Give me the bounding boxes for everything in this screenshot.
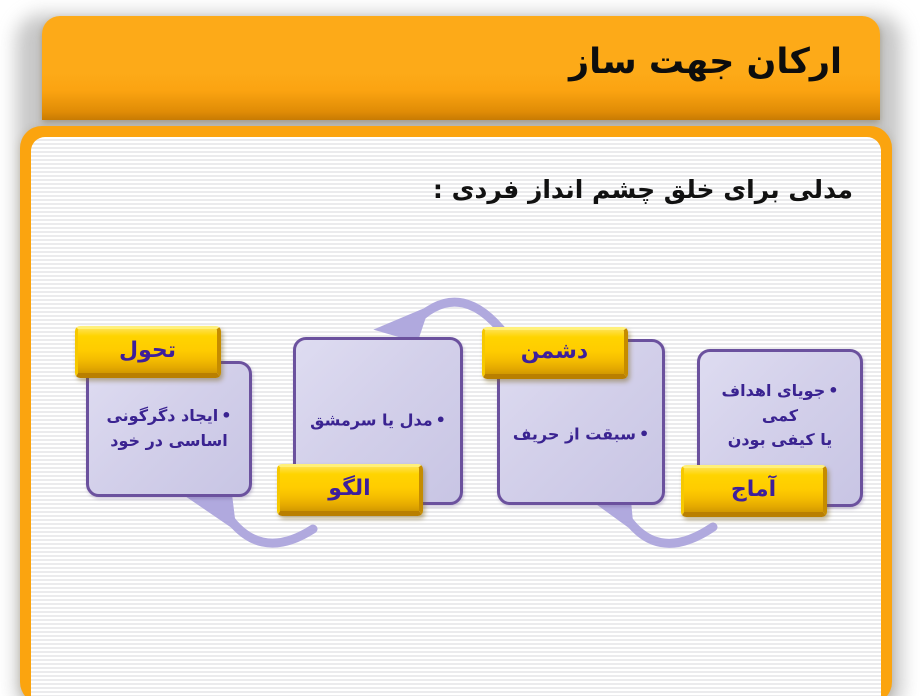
- content-line: اساسی در خود: [110, 431, 227, 450]
- plaque-olgoo-label: الگو: [280, 476, 419, 501]
- content-box-olgoo-text: •مدل یا سرمشق: [306, 409, 450, 434]
- plaque-doshman-label: دشمن: [485, 339, 624, 364]
- plaque-amaj[interactable]: آماج: [681, 465, 827, 517]
- bullet-icon: •: [221, 406, 231, 425]
- content-box-doshman-text: •سبقت از حریف: [510, 422, 652, 447]
- bullet-icon: •: [828, 381, 838, 400]
- content-box-tahavol-text: •ایجاد دگرگونی اساسی در خود: [99, 404, 239, 454]
- title-bar: ارکان جهت ساز: [42, 16, 880, 120]
- content-line: جویای اهداف کمی: [722, 381, 826, 425]
- content-panel-inner: مدلی برای خلق چشم انداز فردی :: [31, 137, 881, 696]
- content-box-tahavol: •ایجاد دگرگونی اساسی در خود: [86, 361, 252, 497]
- slide: ارکان جهت ساز مدلی برای خلق چشم انداز فر…: [0, 0, 920, 696]
- plaque-doshman[interactable]: دشمن: [482, 327, 628, 379]
- content-panel: مدلی برای خلق چشم انداز فردی :: [20, 126, 892, 696]
- plaque-tahavol-label: تحول: [78, 338, 217, 363]
- plaque-amaj-label: آماج: [684, 477, 823, 502]
- content-box-amaj-text: •جویای اهداف کمی یا کیفی بودن: [710, 379, 850, 453]
- vision-model-diagram: •ایجاد دگرگونی اساسی در خود تحول •مدل یا…: [31, 137, 881, 693]
- page-title: ارکان جهت ساز: [569, 42, 842, 82]
- plaque-tahavol[interactable]: تحول: [75, 326, 221, 378]
- content-line: یا کیفی بودن: [728, 430, 833, 449]
- bullet-icon: •: [436, 411, 446, 430]
- plaque-olgoo[interactable]: الگو: [277, 464, 423, 516]
- content-line: ایجاد دگرگونی: [106, 406, 218, 425]
- content-line: سبقت از حریف: [513, 424, 636, 443]
- bullet-icon: •: [639, 424, 649, 443]
- content-line: مدل یا سرمشق: [310, 411, 432, 430]
